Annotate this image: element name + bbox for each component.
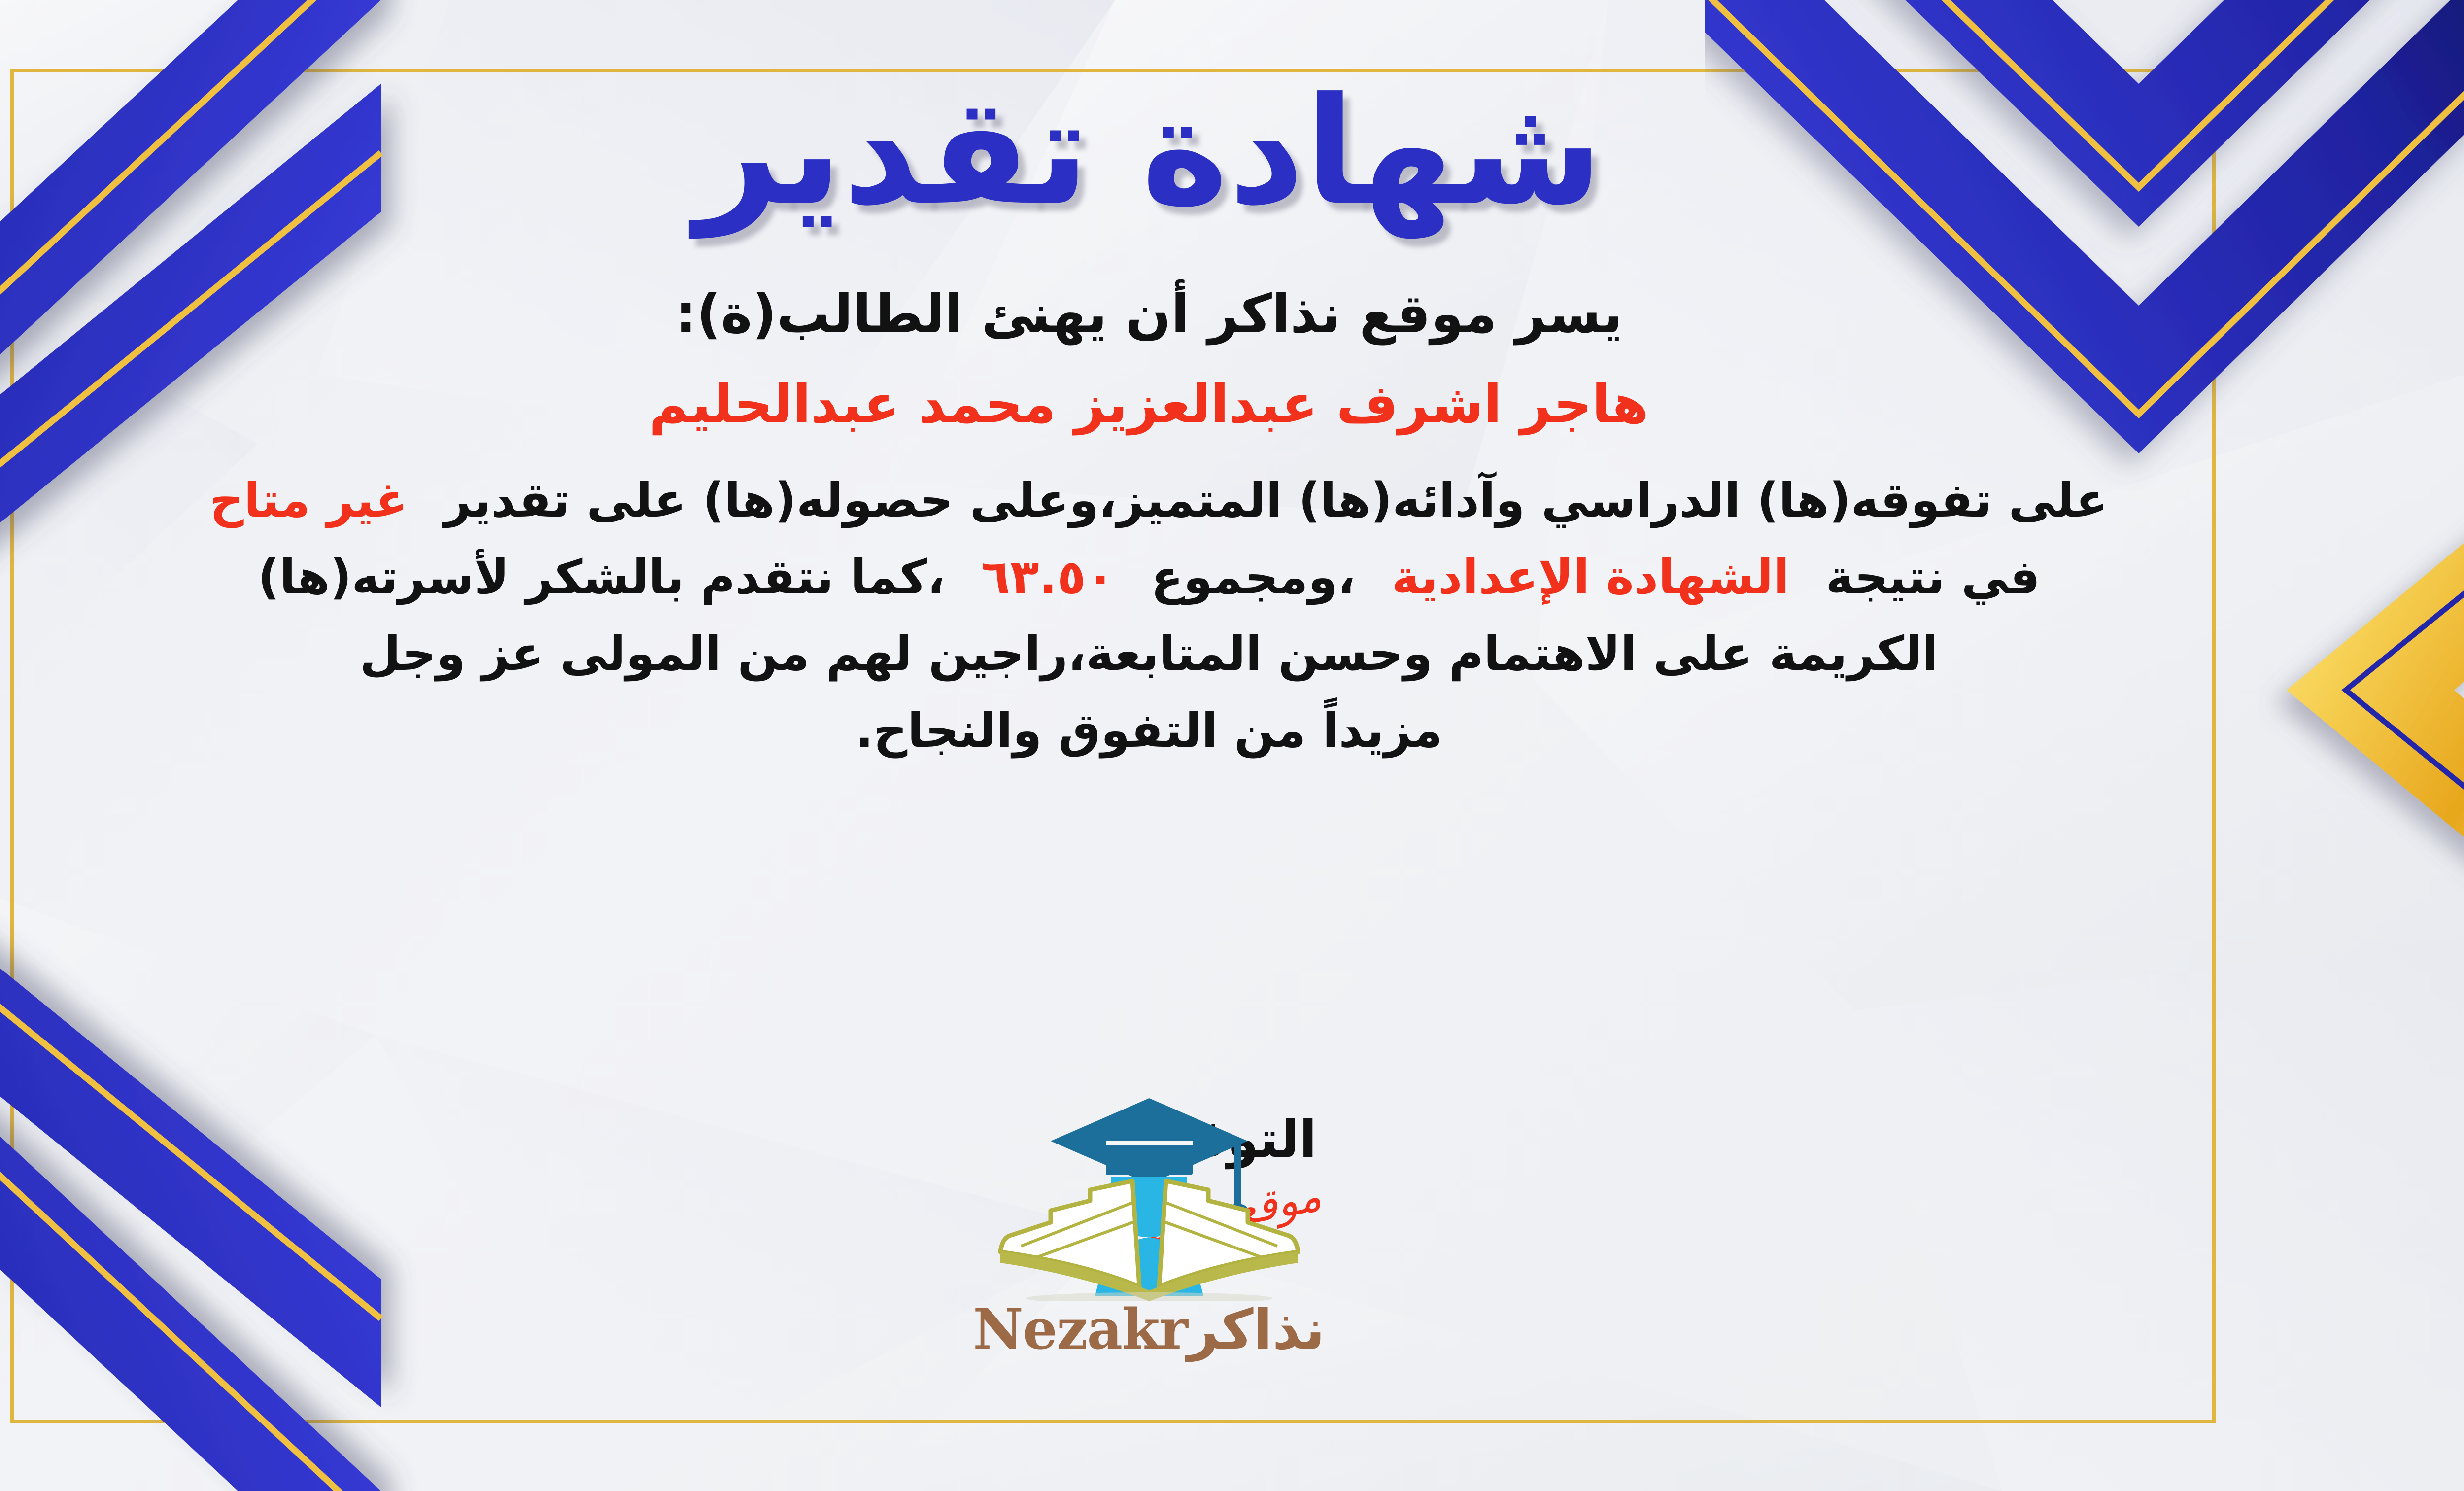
body-line-4: مزيداً من التفوق والنجاح.: [0, 693, 2405, 769]
body-line-1-text: على تفوقه(ها) الدراسي وآدائه(ها) المتميز…: [444, 473, 2108, 528]
body-line-2-prefix: في نتيجة: [1826, 550, 2040, 605]
student-name: هاجر اشرف عبدالعزيز محمد عبدالحليم: [0, 374, 2464, 435]
body-paragraph: على تفوقه(ها) الدراسي وآدائه(ها) المتميز…: [0, 462, 2464, 769]
site-logo: Nezakrنذاكر: [927, 1089, 1371, 1362]
body-line-3: الكريمة على الاهتمام وحسن المتابعة،راجين…: [0, 616, 2405, 693]
logo-latin-text: Nezakr: [973, 1297, 1187, 1362]
certificate-content: شهادة تقدير يسر موقع نذاكر أن يهنئ الطال…: [0, 0, 2464, 769]
logo-wordmark: Nezakrنذاكر: [927, 1297, 1371, 1362]
total-score: ٦٣.٥٠: [981, 550, 1115, 605]
body-line-1: على تفوقه(ها) الدراسي وآدائه(ها) المتميز…: [0, 462, 2405, 539]
certificate-title: شهادة تقدير: [0, 74, 2464, 229]
body-line-2-mid: ،ومجموع: [1151, 550, 1356, 605]
graduation-book-logo-icon: [992, 1089, 1307, 1301]
body-line-2-suffix: ،كما نتقدم بالشكر لأسرته(ها): [258, 550, 945, 605]
certificate-footer: التوقيع موقع نذاكر: [0, 1109, 2464, 1405]
exam-name: الشهادة الإعدادية: [1392, 550, 1789, 605]
logo-arabic-text: نذاكر: [1187, 1298, 1325, 1362]
body-line-2: في نتيجة الشهادة الإعدادية ،ومجموع ٦٣.٥٠…: [0, 539, 2405, 616]
certificate-canvas: شهادة تقدير يسر موقع نذاكر أن يهنئ الطال…: [0, 0, 2464, 1491]
grade-value: غير متاح: [210, 473, 408, 528]
intro-line: يسر موقع نذاكر أن يهنئ الطالب(ة):: [0, 283, 2464, 345]
